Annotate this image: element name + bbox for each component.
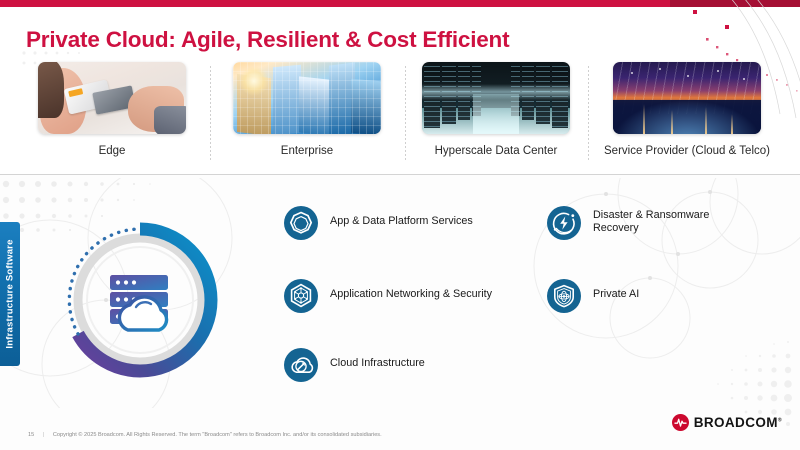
sidebar-tab-infrastructure-software[interactable]: Infrastructure Software <box>0 222 20 366</box>
segment-image-enterprise <box>233 62 381 134</box>
broadcom-logo: BROADCOM® <box>672 414 782 431</box>
segment-divider-2 <box>405 66 406 162</box>
cloud-arrow-icon <box>284 348 318 382</box>
feature-label: Application Networking & Security <box>330 279 492 301</box>
segment-card-service-provider[interactable]: Service Provider (Cloud & Telco) <box>613 62 761 170</box>
segment-label-enterprise: Enterprise <box>281 145 333 157</box>
segment-label-service-provider: Service Provider (Cloud & Telco) <box>604 145 770 157</box>
feature-label: Private AI <box>593 279 639 301</box>
segment-image-hyperscale <box>422 62 570 134</box>
page-number: 15 <box>28 432 34 438</box>
private-cloud-ring-graphic <box>52 212 228 388</box>
registered-mark: ® <box>778 418 782 424</box>
segment-card-enterprise[interactable]: Enterprise <box>233 62 381 170</box>
segment-thumbnail-strip: Edge Enterprise <box>0 62 800 170</box>
segment-card-edge[interactable]: Edge <box>38 62 186 170</box>
broadcom-wordmark: BROADCOM® <box>694 415 782 430</box>
segment-label-hyperscale: Hyperscale Data Center <box>435 145 558 157</box>
broadcom-name: BROADCOM <box>694 415 778 430</box>
hexagon-network-icon <box>284 279 318 313</box>
feature-label: Cloud Infrastructure <box>330 348 425 370</box>
feature-disaster-ransomware-recovery[interactable]: Disaster & Ransomware Recovery <box>547 206 709 240</box>
feature-cloud-infrastructure[interactable]: Cloud Infrastructure <box>284 348 425 382</box>
segment-image-edge <box>38 62 186 134</box>
broadcom-pulse-logo-icon <box>672 414 689 431</box>
segment-card-hyperscale[interactable]: Hyperscale Data Center <box>422 62 570 170</box>
footer-separator: | <box>43 432 44 438</box>
lightning-recovery-icon <box>547 206 581 240</box>
slide-root: Private Cloud: Agile, Resilient & Cost E… <box>0 0 800 450</box>
feature-label: Disaster & Ransomware Recovery <box>593 206 709 236</box>
top-accent-bar-dark <box>670 0 800 7</box>
footer: 15 | Copyright © 2025 Broadcom. All Righ… <box>28 432 382 438</box>
feature-application-networking-security[interactable]: Application Networking & Security <box>284 279 492 313</box>
segment-divider-1 <box>210 66 211 162</box>
feature-label: App & Data Platform Services <box>330 206 473 228</box>
shield-ai-icon <box>547 279 581 313</box>
segment-label-edge: Edge <box>99 145 126 157</box>
segment-divider-3 <box>588 66 589 162</box>
segment-image-service-provider <box>613 62 761 134</box>
copyright-text: Copyright © 2025 Broadcom. All Rights Re… <box>53 432 382 438</box>
feature-app-data-platform-services[interactable]: App & Data Platform Services <box>284 206 473 240</box>
octagon-ring-icon <box>284 206 318 240</box>
sidebar-tab-label: Infrastructure Software <box>5 239 16 348</box>
feature-private-ai[interactable]: Private AI <box>547 279 639 313</box>
